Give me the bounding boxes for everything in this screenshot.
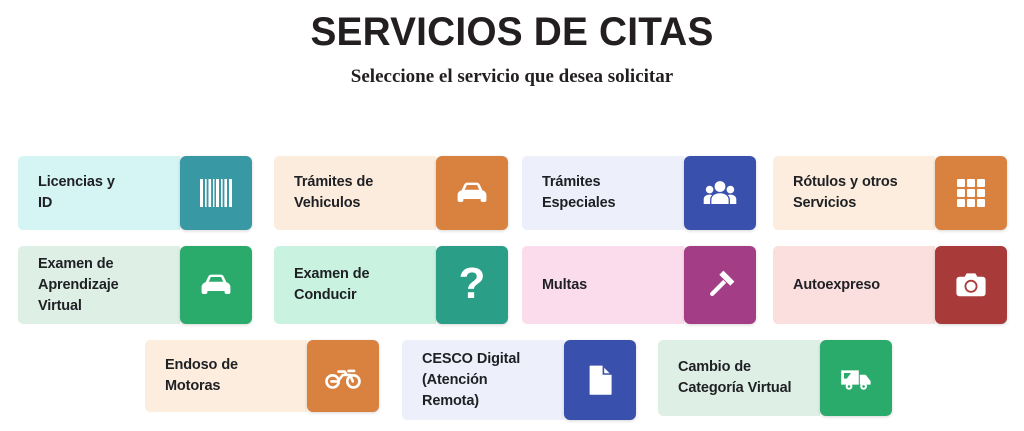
service-card[interactable]: Endoso deMotoras — [145, 340, 379, 412]
service-card-label: Rótulos y otrosServicios — [793, 172, 898, 214]
service-card-label-box[interactable]: Examen deConducir — [274, 246, 436, 324]
service-card-label-box[interactable]: TrámitesEspeciales — [522, 156, 684, 230]
car-icon[interactable] — [180, 246, 252, 324]
service-card-label-box[interactable]: Examen deAprendizajeVirtual — [18, 246, 180, 324]
people-group-icon[interactable] — [684, 156, 756, 230]
camera-icon[interactable] — [935, 246, 1007, 324]
service-card-label-box[interactable]: Licencias yID — [18, 156, 180, 230]
service-card-label-box[interactable]: Multas — [522, 246, 684, 324]
service-card-label: Examen deConducir — [294, 264, 369, 306]
document-icon[interactable] — [564, 340, 636, 420]
service-card-label-box[interactable]: Cambio deCategoría Virtual — [658, 340, 820, 416]
service-card-label-box[interactable]: Rótulos y otrosServicios — [773, 156, 935, 230]
service-card[interactable]: Multas — [522, 246, 756, 324]
service-card[interactable]: CESCO Digital(AtenciónRemota) — [402, 340, 636, 420]
service-card[interactable]: Licencias yID — [18, 156, 252, 230]
service-card[interactable]: Rótulos y otrosServicios — [773, 156, 1007, 230]
question-mark-icon[interactable]: ? — [436, 246, 508, 324]
truck-icon[interactable] — [820, 340, 892, 416]
service-card-label-box[interactable]: Trámites deVehiculos — [274, 156, 436, 230]
service-card-label: CESCO Digital(AtenciónRemota) — [422, 349, 520, 412]
service-card-label: Multas — [542, 275, 587, 296]
gavel-icon[interactable] — [684, 246, 756, 324]
service-card[interactable]: TrámitesEspeciales — [522, 156, 756, 230]
service-card[interactable]: Autoexpreso — [773, 246, 1007, 324]
car-icon[interactable] — [436, 156, 508, 230]
barcode-icon[interactable] — [180, 156, 252, 230]
service-card-label: Autoexpreso — [793, 275, 880, 296]
service-card-label: TrámitesEspeciales — [542, 172, 615, 214]
service-card-label-box[interactable]: Autoexpreso — [773, 246, 935, 324]
grid-nine-icon[interactable] — [935, 156, 1007, 230]
service-card-label: Cambio deCategoría Virtual — [678, 357, 791, 399]
service-card[interactable]: Cambio deCategoría Virtual — [658, 340, 892, 416]
service-card-label: Licencias yID — [38, 172, 115, 214]
service-card-label: Trámites deVehiculos — [294, 172, 373, 214]
service-card-grid: Licencias yIDTrámites deVehiculosTrámite… — [0, 0, 1024, 431]
service-card-label-box[interactable]: CESCO Digital(AtenciónRemota) — [402, 340, 564, 420]
service-card[interactable]: Trámites deVehiculos — [274, 156, 508, 230]
service-card-label-box[interactable]: Endoso deMotoras — [145, 340, 307, 412]
service-card[interactable]: Examen deConducir? — [274, 246, 508, 324]
appointment-services-page: SERVICIOS DE CITAS Seleccione el servici… — [0, 0, 1024, 431]
motorcycle-icon[interactable] — [307, 340, 379, 412]
service-card[interactable]: Examen deAprendizajeVirtual — [18, 246, 252, 324]
service-card-label: Examen deAprendizajeVirtual — [38, 254, 119, 317]
service-card-label: Endoso deMotoras — [165, 355, 238, 397]
